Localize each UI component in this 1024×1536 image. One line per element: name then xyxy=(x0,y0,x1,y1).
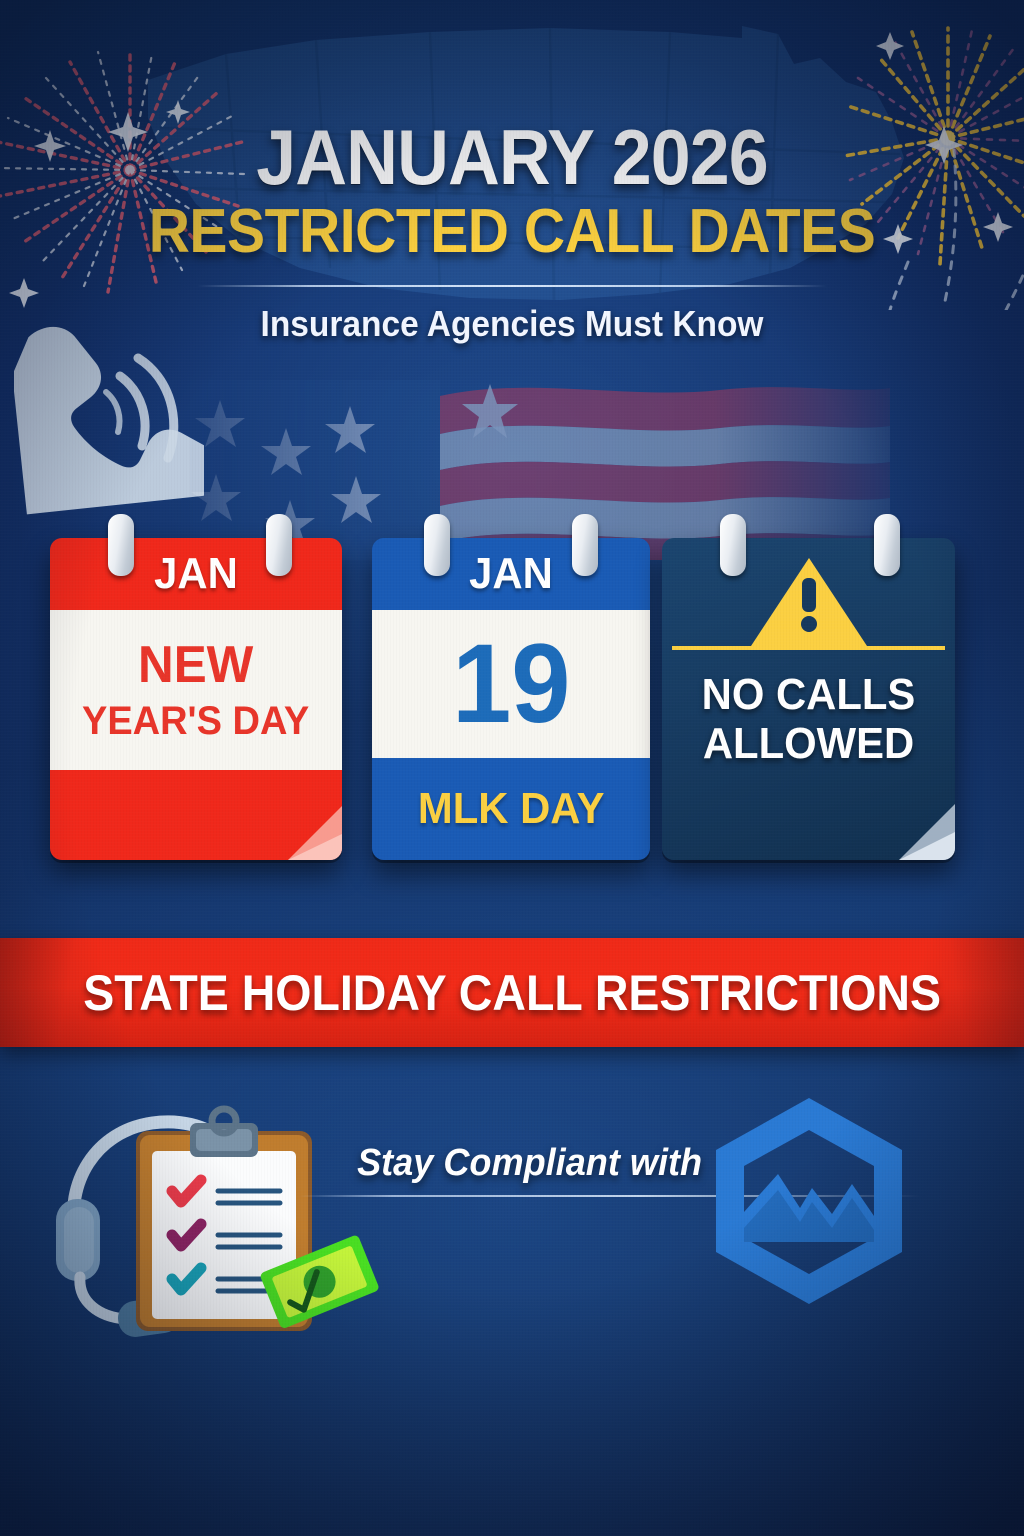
clipboard-checklist-icon xyxy=(40,1087,380,1337)
card-body: NEW YEAR'S DAY xyxy=(50,610,342,770)
calendar-ring xyxy=(572,514,598,576)
card-month-label: JAN xyxy=(57,538,334,610)
card-month-label: JAN xyxy=(379,538,643,610)
calendar-ring xyxy=(266,514,292,576)
hexagon-mountain-logo-icon[interactable] xyxy=(700,1092,918,1310)
page-title: JANUARY 2026 xyxy=(41,120,983,195)
header-divider xyxy=(197,285,827,287)
calendar-ring xyxy=(108,514,134,576)
page-curl-icon xyxy=(268,790,342,860)
card-yellow-divider xyxy=(672,646,945,650)
poster-header: JANUARY 2026 RESTRICTED CALL DATES Insur… xyxy=(0,120,1024,345)
card-message-line2: ALLOWED xyxy=(669,719,947,768)
state-restrictions-banner: STATE HOLIDAY CALL RESTRICTIONS xyxy=(0,938,1024,1047)
usa-flag-icon xyxy=(190,370,890,560)
page-curl-icon xyxy=(881,790,955,860)
footer-tagline: Stay Compliant with xyxy=(357,1142,702,1185)
card-holiday-line2: YEAR'S DAY xyxy=(82,701,309,741)
calendar-card-new-years-day[interactable]: JAN NEW YEAR'S DAY xyxy=(50,538,342,860)
calendar-ring xyxy=(424,514,450,576)
calendar-card-no-calls[interactable]: NO CALLS ALLOWED xyxy=(662,538,955,860)
card-holiday-label: MLK DAY xyxy=(418,784,605,834)
calendar-cards: JAN NEW YEAR'S DAY JAN 19 xyxy=(0,538,1024,868)
infographic-poster: JANUARY 2026 RESTRICTED CALL DATES Insur… xyxy=(0,0,1024,1536)
calendar-ring xyxy=(874,514,900,576)
phone-handset-icon xyxy=(14,316,204,516)
banner-label: STATE HOLIDAY CALL RESTRICTIONS xyxy=(83,964,941,1022)
calendar-card-mlk-day[interactable]: JAN 19 MLK DAY xyxy=(372,538,650,860)
card-body: NO CALLS ALLOWED xyxy=(662,670,955,769)
page-subtitle-main: RESTRICTED CALL DATES xyxy=(41,201,983,263)
card-message-line1: NO CALLS xyxy=(669,670,947,719)
card-holiday-line1: NEW xyxy=(138,639,253,691)
warning-triangle-icon xyxy=(749,554,869,646)
calendar-ring xyxy=(720,514,746,576)
card-footer: MLK DAY xyxy=(372,758,650,860)
card-body: 19 xyxy=(372,610,650,758)
card-day-number: 19 xyxy=(452,628,570,740)
